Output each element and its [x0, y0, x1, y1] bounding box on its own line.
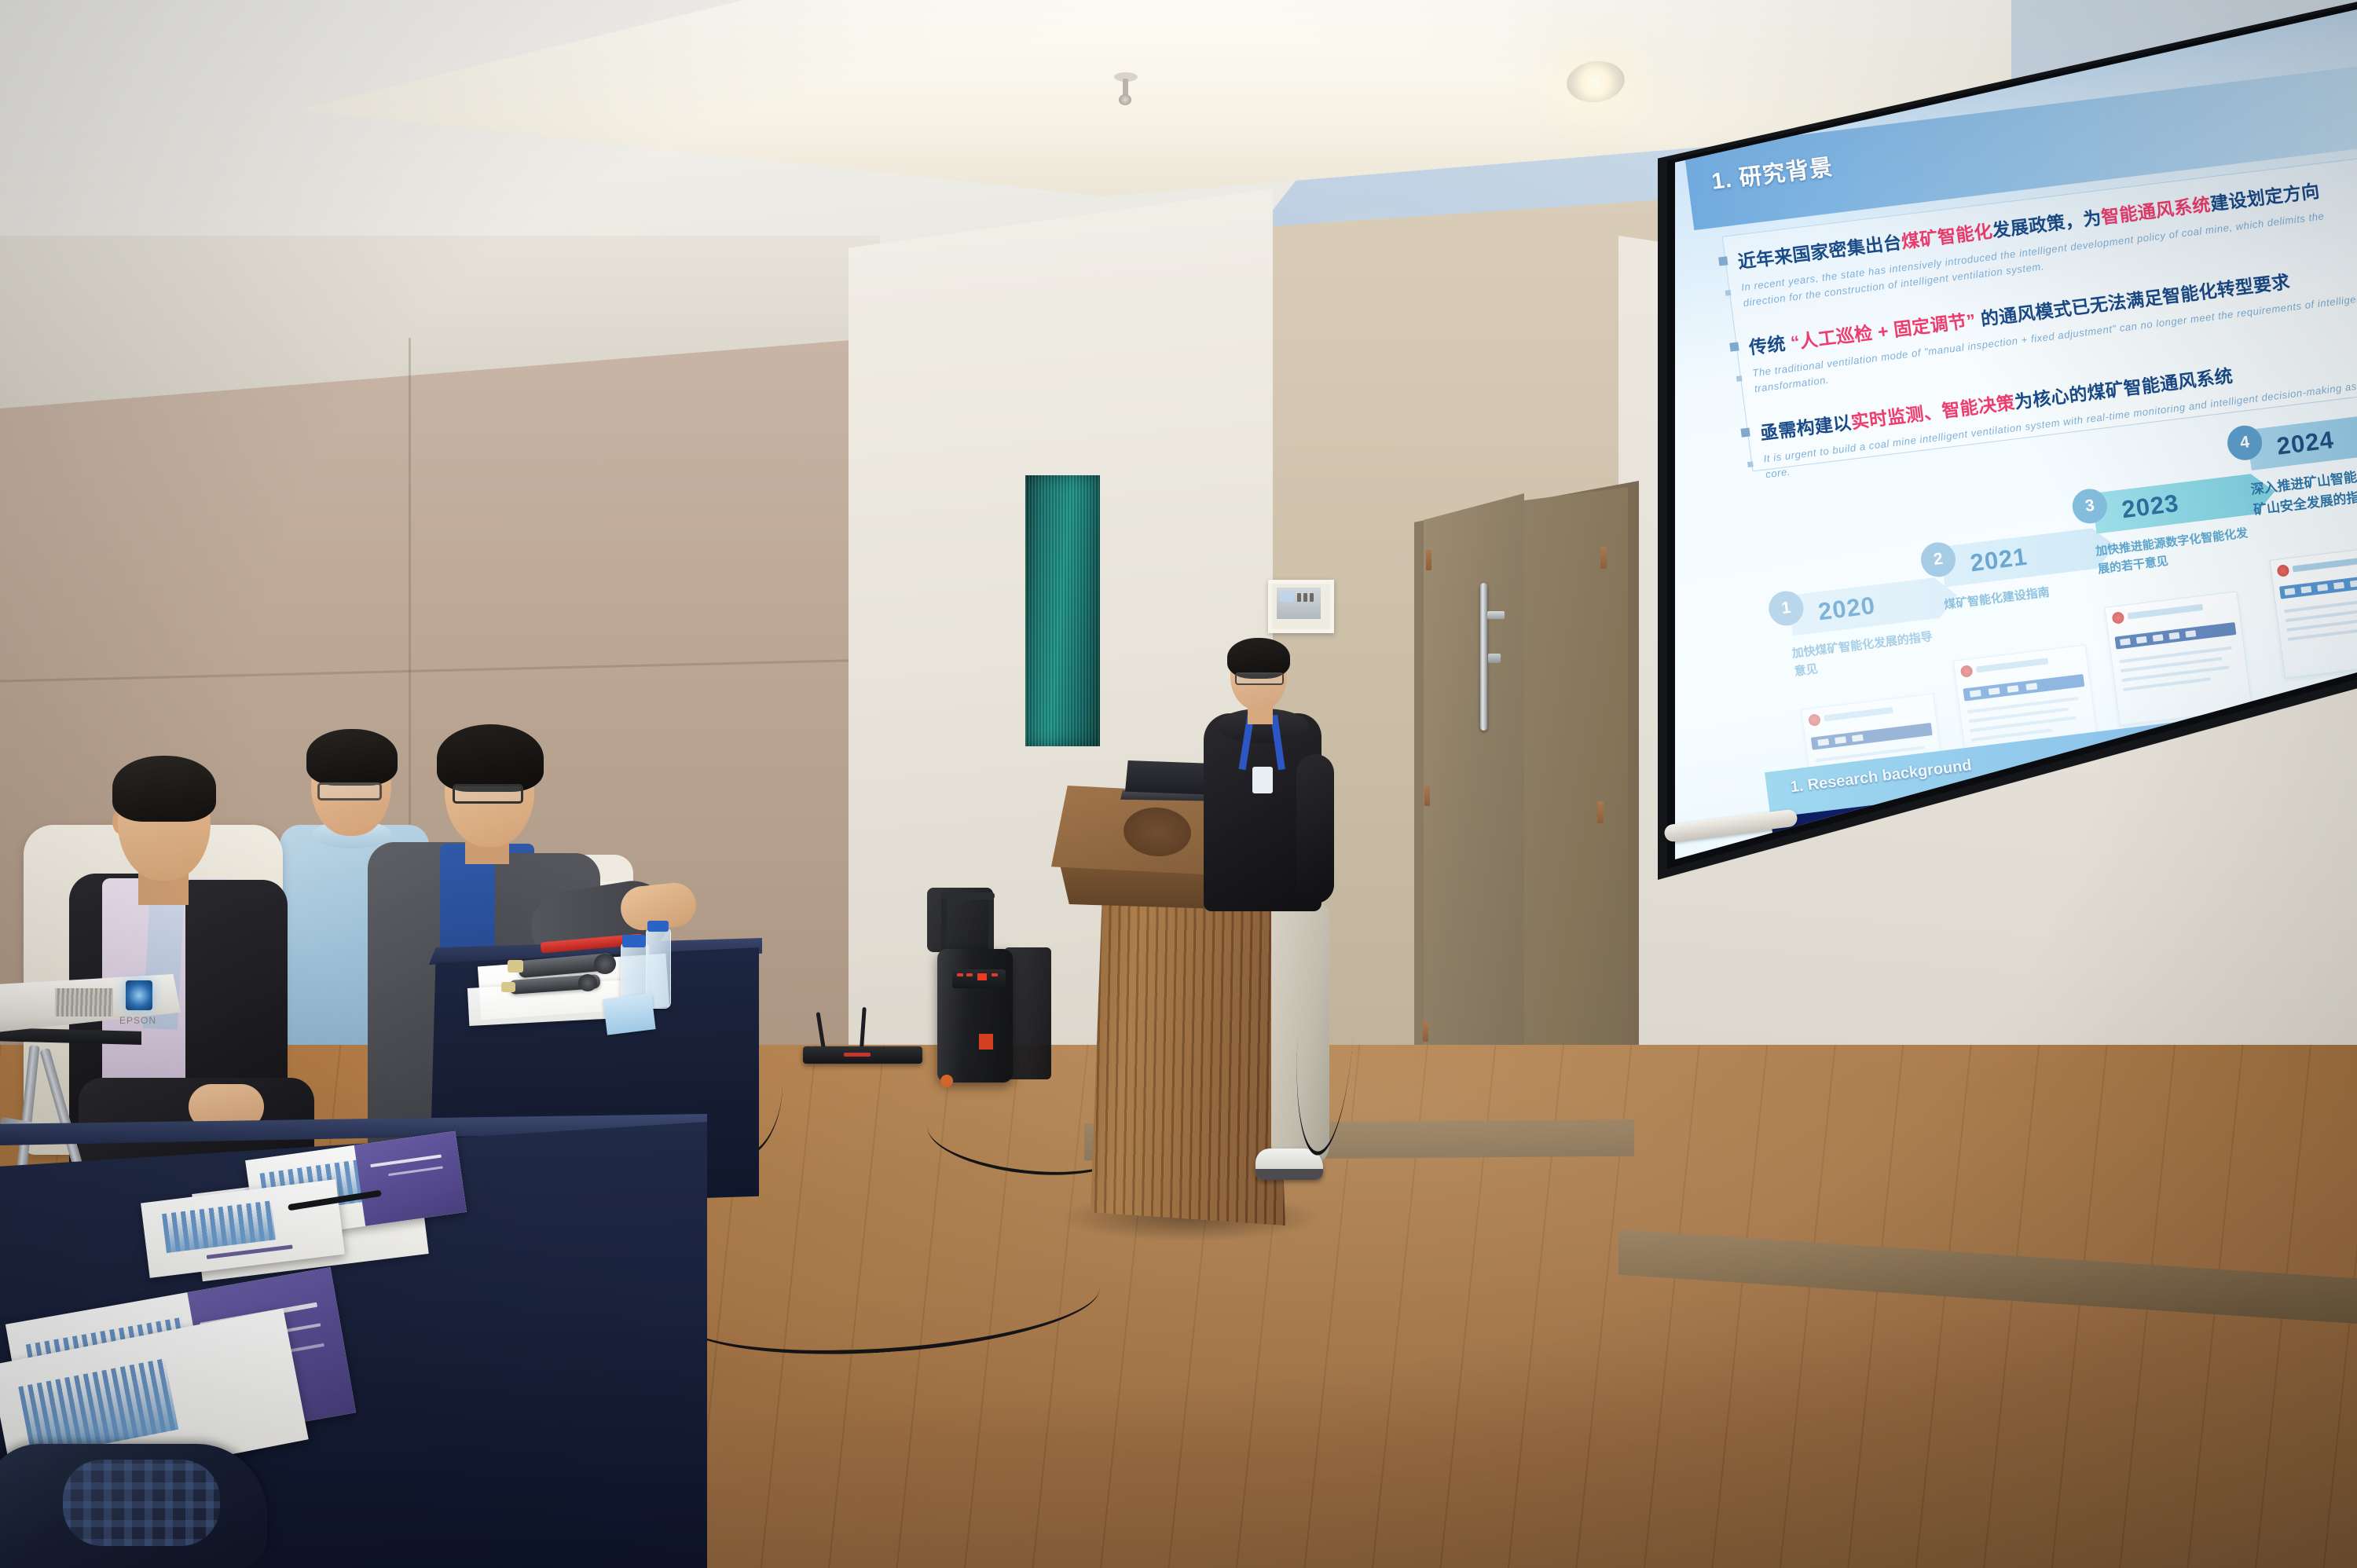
glasses-icon	[1235, 672, 1284, 685]
bullet-marker-small	[1725, 290, 1732, 296]
booklet-skyline-graphic	[19, 1358, 179, 1457]
projector-lens-icon	[126, 980, 152, 1010]
timeline-caption: 加快推进能源数字化智能化发展的若干意见	[2095, 525, 2255, 579]
trolley-handle-grip[interactable]	[941, 892, 995, 899]
decorative-glass-panel	[1025, 475, 1100, 746]
pa-control-panel[interactable]	[952, 969, 1006, 988]
mic-foam-tip	[501, 982, 515, 992]
doc-header	[1976, 658, 2048, 672]
doc-bar	[1811, 723, 1933, 750]
router-led-icon	[844, 1053, 871, 1057]
door-lock-icon[interactable]	[1488, 654, 1501, 663]
doc-chip	[2007, 685, 2019, 693]
folded-jacket-pattern	[63, 1460, 220, 1546]
doc-bar	[1963, 674, 2084, 702]
projector-brand-label: EPSON	[119, 1015, 156, 1026]
doc-chip	[2120, 638, 2131, 646]
bottle-cap	[647, 921, 669, 932]
pa-led	[992, 973, 998, 976]
timeline-year: 2020	[1816, 592, 1877, 627]
glasses-icon	[317, 782, 382, 800]
presenter-shoe-sole	[1255, 1169, 1323, 1180]
doc-header	[2128, 604, 2203, 620]
timeline-arrow: 2020	[1787, 575, 1959, 636]
audience-b-hair	[306, 729, 398, 786]
breaker-switch[interactable]	[1310, 593, 1314, 602]
doc-chip	[1852, 735, 1864, 742]
doc-header	[1824, 707, 1893, 722]
emblem-icon	[1808, 713, 1821, 727]
bullet-marker	[1718, 256, 1728, 266]
conference-room-scene: 1. 研究背景	[0, 0, 2357, 1568]
bullet-marker	[1740, 427, 1750, 437]
door-handle-icon[interactable]	[1480, 583, 1487, 731]
doc-chip	[2350, 580, 2357, 588]
glasses-icon	[453, 784, 523, 804]
mic-foam-tip	[508, 960, 523, 973]
doc-chip	[2185, 630, 2196, 638]
timeline-year: 2021	[1969, 543, 2029, 578]
policy-document-thumb	[2270, 544, 2357, 678]
breaker-switch[interactable]	[1303, 593, 1307, 602]
doc-header	[2293, 556, 2357, 572]
hinge-icon	[1597, 801, 1604, 823]
microphone-head	[578, 974, 597, 991]
emblem-icon	[2277, 564, 2290, 577]
audience-a-hair	[112, 756, 216, 822]
breaker-box[interactable]	[1268, 580, 1334, 633]
pa-led	[957, 973, 963, 976]
hinge-icon	[1423, 1021, 1428, 1042]
booklet-color-band	[354, 1131, 467, 1226]
emblem-icon	[2112, 611, 2125, 625]
projector-vent	[55, 988, 113, 1017]
bullet-marker-small	[1736, 376, 1743, 382]
doc-chip	[2153, 634, 2164, 642]
pa-brand-logo-icon	[979, 1034, 993, 1050]
door-latch-icon[interactable]	[1487, 611, 1505, 619]
hinge-icon	[1424, 786, 1430, 806]
emblem-icon	[1960, 665, 1974, 678]
name-card	[603, 993, 655, 1035]
doc-chip	[1817, 738, 1829, 746]
booklet-skyline-graphic	[162, 1201, 276, 1254]
doc-line	[2284, 596, 2357, 613]
doc-chip	[2136, 636, 2147, 644]
audience-c-hair	[437, 724, 544, 792]
doc-chip	[2333, 582, 2344, 590]
trolley-handle-left[interactable]	[941, 896, 947, 952]
trolley-wheel-icon	[940, 1075, 953, 1087]
pa-led	[966, 973, 973, 976]
trolley-handle-right[interactable]	[988, 894, 994, 952]
timeline-year: 2023	[2121, 489, 2181, 525]
timeline-arrow: 2021	[1940, 526, 2118, 588]
doc-chip	[2169, 632, 2180, 640]
bullet-marker-small	[1747, 461, 1754, 467]
microphone-head	[594, 954, 616, 974]
doc-chip	[1970, 690, 1981, 698]
doc-chip	[2317, 584, 2328, 592]
bottle-cap	[622, 935, 646, 947]
pa-display	[977, 973, 987, 980]
presenter-arm	[1296, 754, 1334, 903]
policy-document-thumb	[2105, 591, 2253, 725]
sprinkler-head-icon	[1119, 94, 1131, 105]
doc-chip	[2285, 588, 2296, 595]
breaker-label	[1280, 592, 1294, 602]
doc-bar	[2279, 572, 2357, 599]
doc-chip	[1989, 687, 2000, 695]
timeline-year: 2024	[2275, 426, 2336, 461]
doc-bar	[2115, 622, 2237, 650]
timeline-caption: 加快煤矿智能化发展的指导意见	[1791, 628, 1944, 681]
doc-chip	[1835, 736, 1846, 744]
presenter-badge	[1252, 767, 1273, 793]
doc-chip	[2300, 586, 2311, 594]
hinge-icon	[1600, 547, 1607, 569]
bullet-marker	[1729, 342, 1739, 351]
breaker-switch[interactable]	[1297, 593, 1301, 602]
doc-chip	[2025, 683, 2037, 691]
hinge-icon	[1426, 550, 1431, 570]
